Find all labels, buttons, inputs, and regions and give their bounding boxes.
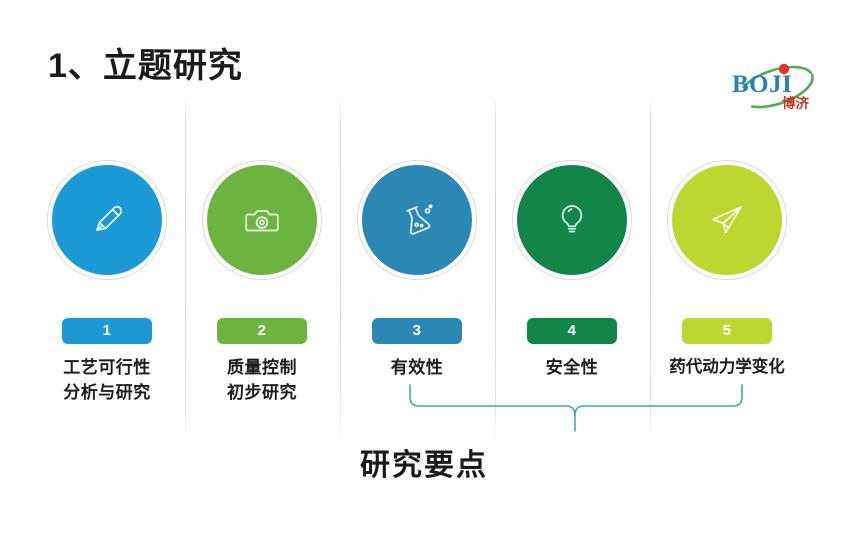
step-caption-4: 安全性: [497, 356, 647, 381]
step-column-2[interactable]: 2 质量控制 初步研究: [187, 160, 337, 405]
flask-icon: [394, 197, 440, 243]
step-badge-5: 5: [682, 318, 772, 344]
step-circle-ring-1: [47, 160, 167, 280]
research-points-brace: [408, 385, 744, 437]
column-divider-2: [340, 95, 341, 440]
step-circle-1[interactable]: [52, 165, 162, 275]
paper-plane-icon: [704, 197, 750, 243]
step-circle-2[interactable]: [207, 165, 317, 275]
footer-label: 研究要点: [0, 440, 848, 484]
step-circle-ring-4: [512, 160, 632, 280]
step-column-3[interactable]: 3 有效性: [342, 160, 492, 381]
svg-text:BOJI: BOJI: [732, 71, 792, 98]
step-badge-2: 2: [217, 318, 307, 344]
step-caption-3: 有效性: [342, 356, 492, 381]
step-circle-ring-3: [357, 160, 477, 280]
step-badge-3: 3: [372, 318, 462, 344]
step-column-4[interactable]: 4 安全性: [497, 160, 647, 381]
step-column-1[interactable]: 1 工艺可行性 分析与研究: [32, 160, 182, 405]
step-badge-1: 1: [62, 318, 152, 344]
svg-text:博济: 博济: [782, 95, 810, 111]
slide-canvas: 1、立题研究 BOJI 博济: [0, 0, 848, 537]
page-title: 1、立题研究: [48, 48, 243, 85]
step-badge-4: 4: [527, 318, 617, 344]
step-circle-3[interactable]: [362, 165, 472, 275]
step-caption-5: 药代动力学变化: [652, 356, 802, 380]
step-caption-2: 质量控制 初步研究: [187, 356, 337, 405]
step-caption-1: 工艺可行性 分析与研究: [32, 356, 182, 405]
lightbulb-icon: [549, 197, 595, 243]
step-circle-4[interactable]: [517, 165, 627, 275]
camera-icon: [239, 197, 285, 243]
step-circle-5[interactable]: [672, 165, 782, 275]
pencil-icon: [84, 197, 130, 243]
boji-logo: BOJI 博济: [722, 58, 830, 118]
step-circle-ring-2: [202, 160, 322, 280]
step-column-5[interactable]: 5 药代动力学变化: [652, 160, 802, 380]
step-circle-ring-5: [667, 160, 787, 280]
column-divider-1: [185, 95, 186, 440]
